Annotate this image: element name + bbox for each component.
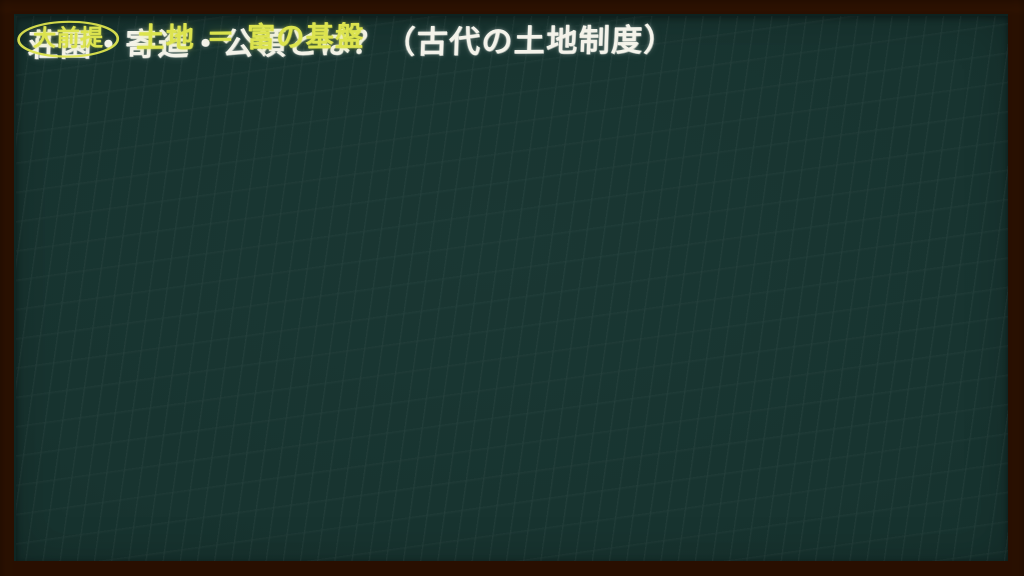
lesson-slide: 荘園・寄進・公領とは？（古代の土地制度） 大前提 土地 ＝ 富の基盤 [0, 0, 1024, 576]
premise-badge: 大前提 [15, 19, 121, 59]
premise-statement: 土地 ＝ 富の基盤 [136, 20, 365, 55]
chalkboard: 荘園・寄進・公領とは？（古代の土地制度） 大前提 土地 ＝ 富の基盤 [14, 14, 1008, 561]
board-empty-area [26, 146, 998, 553]
premise-line: 大前提 土地 ＝ 富の基盤 [15, 14, 1008, 62]
board-content: 荘園・寄進・公領とは？（古代の土地制度） 大前提 土地 ＝ 富の基盤 [16, 16, 1008, 561]
premise-badge-label: 大前提 [33, 25, 104, 51]
